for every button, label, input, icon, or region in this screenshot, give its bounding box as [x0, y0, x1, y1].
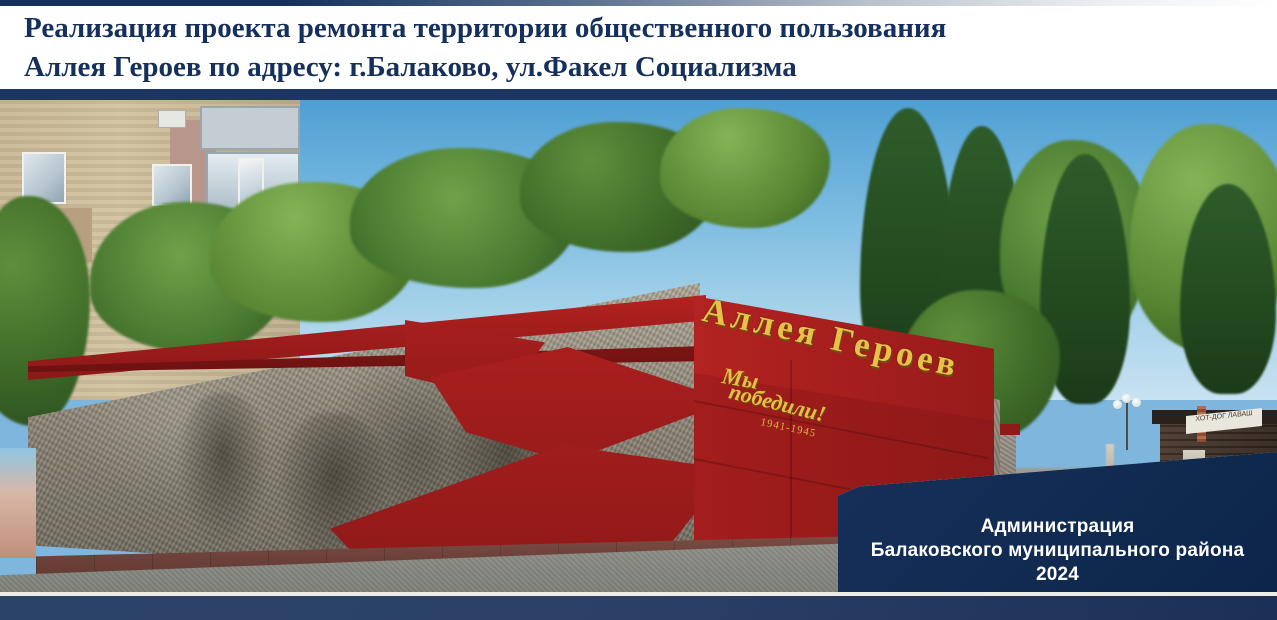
banner-text-block: Администрация Балаковского муниципальног… [838, 515, 1277, 587]
slide-header: Реализация проекта ремонта территории об… [0, 6, 1277, 89]
mural-figure [178, 393, 268, 543]
lamp-globe [1113, 400, 1122, 409]
page-title-line-1: Реализация проекта ремонта территории об… [24, 9, 1277, 48]
page-title-line-2: Аллея Героев по адресу: г.Балаково, ул.Ф… [24, 48, 1277, 87]
lamp-post [1126, 400, 1128, 450]
playground-mural [0, 448, 36, 558]
banner-line-3: 2024 [838, 563, 1277, 587]
header-divider [0, 89, 1277, 100]
banner-line-2: Балаковского муниципального района [838, 539, 1277, 563]
lamp-globe [1132, 398, 1141, 407]
lamp-globe [1122, 394, 1131, 403]
presentation-slide: Реализация проекта ремонта территории об… [0, 0, 1277, 620]
bottom-strip [0, 596, 1277, 620]
banner-line-1: Администрация [838, 515, 1277, 539]
